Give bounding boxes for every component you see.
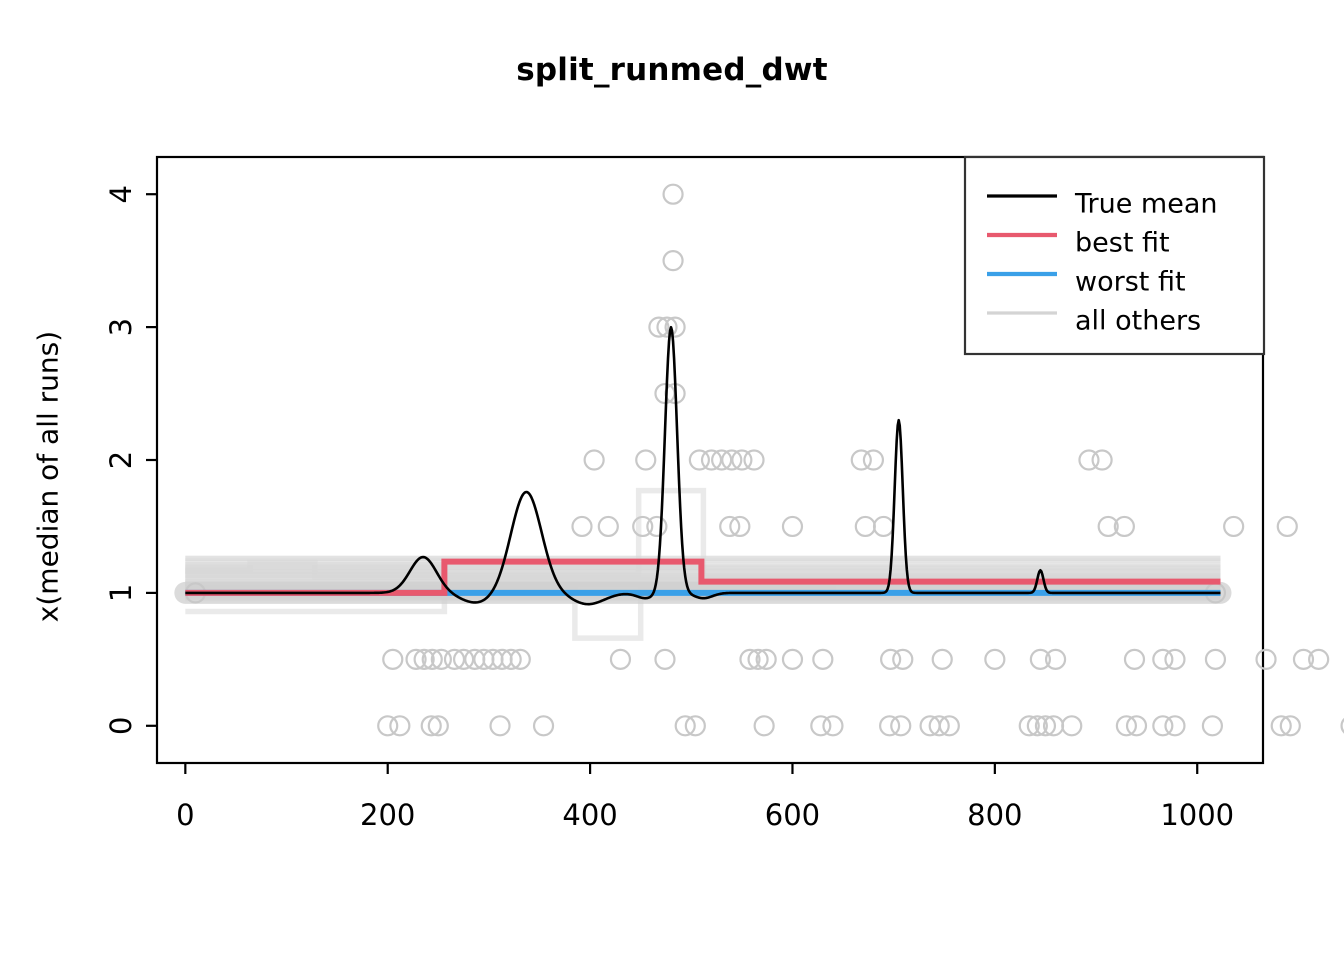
data-point [1093,451,1112,470]
data-point [1165,650,1184,669]
data-point [813,650,832,669]
data-point [1206,650,1225,669]
data-point [655,650,674,669]
data-point [383,650,402,669]
data-point [664,185,683,204]
data-point [864,451,883,470]
data-point [611,650,630,669]
x-tick-label: 1000 [1160,798,1234,832]
y-tick-label: 3 [104,318,138,336]
x-tick-label: 600 [765,798,820,832]
data-point [491,716,510,735]
data-point [572,517,591,536]
x-tick-label: 400 [562,798,617,832]
legend-label: all others [1075,306,1201,337]
data-point [755,716,774,735]
data-point [534,716,553,735]
data-point [874,517,893,536]
data-point [1257,650,1276,669]
chart-figure: split_runmed_dwt x(median of all runs) 0… [0,0,1344,960]
data-point [1125,650,1144,669]
x-tick-label: 200 [360,798,415,832]
data-point [783,650,802,669]
data-point [1224,517,1243,536]
data-point [1203,716,1222,735]
legend-label: True mean [1074,189,1218,220]
data-point [599,517,618,536]
x-tick-label: 800 [967,798,1022,832]
data-point [856,517,875,536]
legend-label: worst fit [1075,267,1186,298]
data-point [390,716,409,735]
x-tick-label: 0 [176,798,194,832]
legend-label: best fit [1075,228,1170,259]
data-point [1278,517,1297,536]
data-point [647,517,666,536]
chart-legend: True meanbest fitworst fitall others [965,157,1264,354]
plot-canvas: 0200400600800100001234 True meanbest fit… [0,0,1344,960]
data-point [933,650,952,669]
data-point [880,716,899,735]
data-point [823,716,842,735]
data-point [745,451,764,470]
data-point [783,517,802,536]
data-point [891,716,910,735]
data-point [1062,716,1081,735]
y-tick-label: 2 [104,451,138,469]
data-point [985,650,1004,669]
y-tick-label: 0 [104,717,138,735]
data-point [1165,716,1184,735]
data-point [893,650,912,669]
y-tick-label: 4 [104,185,138,203]
y-tick-label: 1 [104,584,138,602]
data-point [664,251,683,270]
data-point [636,451,655,470]
data-point [585,451,604,470]
